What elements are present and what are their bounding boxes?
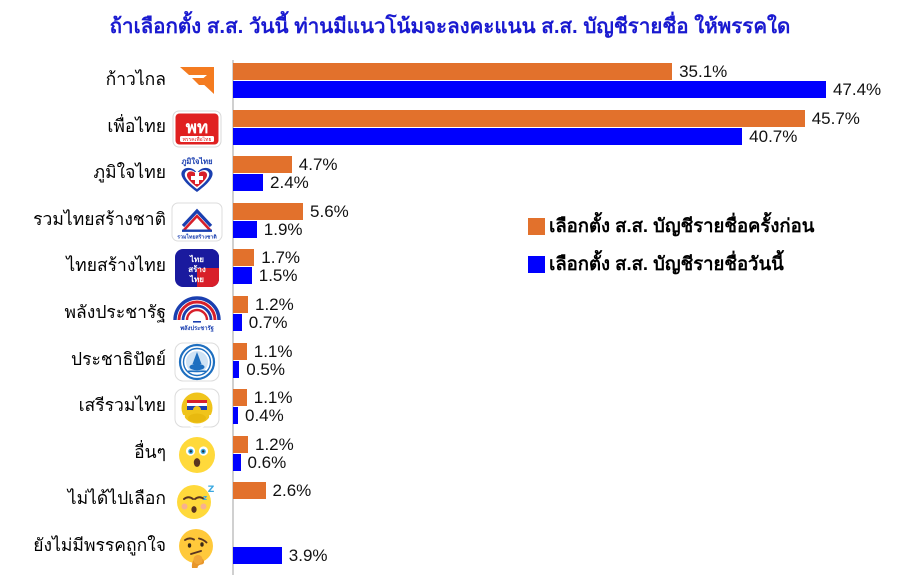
bar-prev-6[interactable] bbox=[233, 343, 247, 360]
svg-text:ภูมิใจไทย: ภูมิใจไทย bbox=[181, 156, 212, 167]
bar-prev-5[interactable] bbox=[233, 296, 248, 313]
legend-swatch-icon-prev bbox=[528, 218, 545, 235]
category-label-10: ยังไม่มีพรรคถูกใจ bbox=[33, 537, 166, 555]
chart-row: ภูมิใจไทย ภูมิใจไทย 4.7%2.4% bbox=[0, 156, 900, 203]
category-label-5: พลังประชารัฐ bbox=[65, 304, 166, 322]
bhumjaithai-logo: ภูมิใจไทย bbox=[170, 154, 224, 196]
bar-value-label-prev-0: 35.1% bbox=[679, 63, 727, 80]
svg-text:พลังประชารัฐ: พลังประชารัฐ bbox=[180, 324, 214, 332]
bar-value-label-prev-1: 45.7% bbox=[812, 110, 860, 127]
category-label-8: อื่นๆ bbox=[134, 444, 166, 462]
svg-text:รวมไทยสร้างชาติ: รวมไทยสร้างชาติ bbox=[177, 232, 217, 240]
chart-row: เสรีรวมไทย 1.1%0.4% bbox=[0, 389, 900, 436]
bar-value-label-today-3: 1.9% bbox=[264, 221, 303, 238]
plot-area: ก้าวไกล 35.1%47.4%เพื่อไทย พท พรรคเพื่อไ… bbox=[0, 52, 900, 579]
bar-value-label-prev-3: 5.6% bbox=[310, 203, 349, 220]
bar-prev-1[interactable] bbox=[233, 110, 805, 127]
bar-value-label-prev-7: 1.1% bbox=[254, 389, 293, 406]
surprised-face-emoji bbox=[170, 434, 224, 476]
bar-today-6[interactable] bbox=[233, 361, 239, 378]
svg-text:พรรคเพื่อไทย: พรรคเพื่อไทย bbox=[183, 136, 212, 143]
bar-value-label-prev-6: 1.1% bbox=[254, 343, 293, 360]
bar-value-label-today-4: 1.5% bbox=[259, 267, 298, 284]
move-forward-logo bbox=[170, 61, 224, 103]
thinking-face-emoji bbox=[170, 527, 224, 569]
democrat-logo bbox=[170, 341, 224, 383]
sleeping-face-emoji: Z z bbox=[170, 480, 224, 522]
bar-value-label-today-5: 0.7% bbox=[249, 314, 288, 331]
pheu-thai-logo: พท พรรคเพื่อไทย bbox=[170, 108, 224, 150]
bar-value-label-prev-5: 1.2% bbox=[255, 296, 294, 313]
bar-value-label-today-6: 0.5% bbox=[246, 361, 285, 378]
bar-value-label-today-1: 40.7% bbox=[749, 128, 797, 145]
svg-text:Z: Z bbox=[208, 485, 215, 495]
legend-label-today: เลือกตั้ง ส.ส. บัญชีรายชื่อวันนี้ bbox=[549, 250, 784, 278]
bar-value-label-today-0: 47.4% bbox=[833, 81, 881, 98]
bar-prev-0[interactable] bbox=[233, 63, 672, 80]
chart-row: อื่นๆ 1.2%0.6% bbox=[0, 436, 900, 483]
svg-text:สร้าง: สร้าง bbox=[188, 264, 206, 274]
bar-today-3[interactable] bbox=[233, 221, 257, 238]
thai-sang-thai-logo: ไทย สร้าง ไทย bbox=[170, 247, 224, 289]
svg-text:ไทย: ไทย bbox=[189, 254, 204, 264]
svg-text:z: z bbox=[203, 494, 207, 502]
chart-row: ประชาธิปัตย์ 1.1%0.5% bbox=[0, 343, 900, 390]
legend-label-prev: เลือกตั้ง ส.ส. บัญชีรายชื่อครั้งก่อน bbox=[549, 212, 814, 240]
category-label-6: ประชาธิปัตย์ bbox=[71, 351, 166, 369]
svg-text:พท: พท bbox=[186, 118, 208, 138]
legend-swatch-icon-today bbox=[528, 256, 545, 273]
bar-value-label-prev-9: 2.6% bbox=[273, 482, 312, 499]
category-label-1: เพื่อไทย bbox=[107, 118, 166, 136]
bar-prev-3[interactable] bbox=[233, 203, 303, 220]
bar-today-0[interactable] bbox=[233, 81, 826, 98]
bar-prev-8[interactable] bbox=[233, 436, 248, 453]
bar-prev-2[interactable] bbox=[233, 156, 292, 173]
bar-value-label-today-10: 3.9% bbox=[289, 547, 328, 564]
ruam-thai-sang-chart-logo: รวมไทยสร้างชาติ bbox=[170, 201, 224, 243]
bar-today-2[interactable] bbox=[233, 174, 263, 191]
category-label-3: รวมไทยสร้างชาติ bbox=[33, 211, 166, 229]
bar-value-label-prev-8: 1.2% bbox=[255, 436, 294, 453]
chart-row: ไม่ได้ไปเลือก Z z 2.6% bbox=[0, 482, 900, 529]
chart-container: ถ้าเลือกตั้ง ส.ส. วันนี้ ท่านมีแนวโน้มจะ… bbox=[0, 0, 900, 579]
category-label-9: ไม่ได้ไปเลือก bbox=[68, 490, 166, 508]
chart-row: ยังไม่มีพรรคถูกใจ 3.9% bbox=[0, 529, 900, 576]
bar-value-label-prev-4: 1.7% bbox=[261, 249, 300, 266]
category-label-0: ก้าวไกล bbox=[106, 71, 166, 89]
chart-row: พลังประชารัฐ พลังประชารัฐ 1.2%0.7% bbox=[0, 296, 900, 343]
chart-row: ก้าวไกล 35.1%47.4% bbox=[0, 63, 900, 110]
bar-today-1[interactable] bbox=[233, 128, 742, 145]
bar-value-label-today-7: 0.4% bbox=[245, 407, 284, 424]
category-label-2: ภูมิใจไทย bbox=[94, 164, 166, 182]
category-label-4: ไทยสร้างไทย bbox=[66, 257, 166, 275]
bar-prev-7[interactable] bbox=[233, 389, 247, 406]
page-title: ถ้าเลือกตั้ง ส.ส. วันนี้ ท่านมีแนวโน้มจะ… bbox=[0, 10, 900, 43]
bar-prev-9[interactable] bbox=[233, 482, 266, 499]
bar-today-4[interactable] bbox=[233, 267, 252, 284]
chart-row: เพื่อไทย พท พรรคเพื่อไทย 45.7%40.7% bbox=[0, 110, 900, 157]
category-label-7: เสรีรวมไทย bbox=[79, 397, 166, 415]
bar-today-10[interactable] bbox=[233, 547, 282, 564]
bar-value-label-today-2: 2.4% bbox=[270, 174, 309, 191]
bar-value-label-prev-2: 4.7% bbox=[299, 156, 338, 173]
svg-text:ไทย: ไทย bbox=[189, 274, 204, 284]
bar-today-7[interactable] bbox=[233, 407, 238, 424]
bar-value-label-today-8: 0.6% bbox=[248, 454, 287, 471]
bar-today-8[interactable] bbox=[233, 454, 241, 471]
palang-pracharath-logo: พลังประชารัฐ bbox=[170, 294, 224, 336]
bar-prev-4[interactable] bbox=[233, 249, 254, 266]
bar-today-5[interactable] bbox=[233, 314, 242, 331]
seri-ruam-thai-logo bbox=[170, 387, 224, 429]
